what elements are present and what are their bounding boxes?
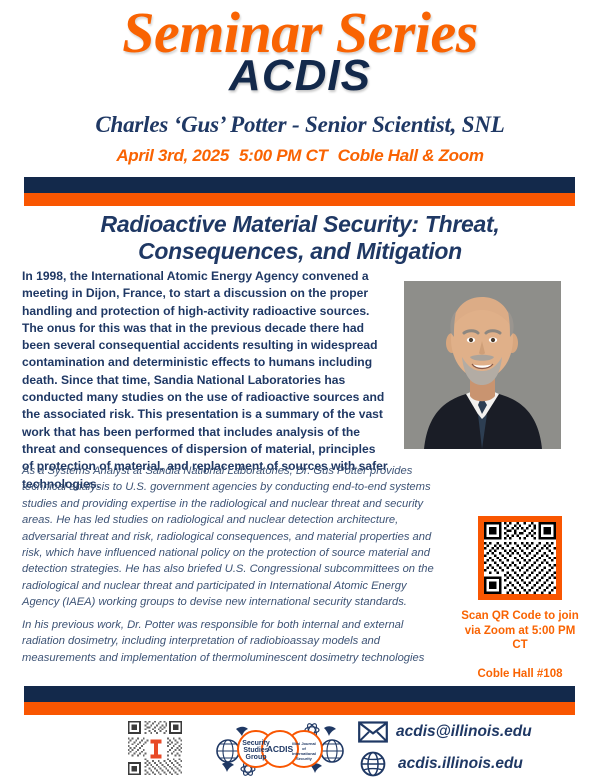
speaker-bio-paragraph-1: As a Systems Analyst at Sandia National … bbox=[22, 463, 446, 611]
poster-footer: Security Studies Group ACDIS Illini Jour… bbox=[0, 716, 600, 777]
qr-code-icon bbox=[124, 719, 186, 777]
logo-text-security-2: Security bbox=[296, 756, 313, 761]
top-divider-navy-bar bbox=[24, 177, 575, 193]
globe-icon bbox=[360, 751, 386, 777]
bottom-divider-navy-bar bbox=[24, 686, 575, 702]
poster-header: Seminar Series ACDIS Charles ‘Gus’ Potte… bbox=[0, 0, 600, 170]
contact-block: acdis@illinois.edu acdis.illinois.edu bbox=[358, 720, 588, 784]
logo-text-acdis: ACDIS bbox=[267, 744, 294, 754]
globe-right-icon bbox=[321, 740, 343, 762]
logo-text-group: Group bbox=[246, 754, 267, 761]
website-url: acdis.illinois.edu bbox=[398, 755, 523, 773]
speaker-photo bbox=[404, 281, 561, 449]
illinois-qr-code[interactable] bbox=[124, 719, 186, 777]
logo-text-security: Security bbox=[242, 740, 270, 747]
acdis-logo-icon: Security Studies Group ACDIS Illini Jour… bbox=[212, 720, 348, 778]
globe-left-icon bbox=[217, 740, 239, 762]
acdis-partner-logo: Security Studies Group ACDIS Illini Jour… bbox=[212, 720, 348, 778]
seminar-poster: Seminar Series ACDIS Charles ‘Gus’ Potte… bbox=[0, 0, 600, 777]
bottom-divider-orange-bar bbox=[24, 702, 575, 715]
logo-text-studies: Studies bbox=[243, 747, 268, 754]
contact-email-row[interactable]: acdis@illinois.edu bbox=[358, 720, 588, 744]
talk-title: Radioactive Material Security: Threat, C… bbox=[42, 211, 558, 265]
email-icon bbox=[358, 720, 388, 744]
bottom-divider bbox=[24, 686, 575, 715]
zoom-qr-code[interactable] bbox=[478, 516, 562, 600]
room-number: Coble Hall #108 bbox=[461, 667, 579, 682]
event-location: Coble Hall & Zoom bbox=[338, 146, 484, 165]
email-address: acdis@illinois.edu bbox=[396, 723, 532, 741]
speaker-bio-paragraph-2: In his previous work, Dr. Potter was res… bbox=[22, 617, 446, 666]
contact-website-row[interactable]: acdis.illinois.edu bbox=[358, 751, 588, 777]
event-time: 5:00 PM CT bbox=[239, 146, 328, 165]
speaker-portrait-illustration bbox=[404, 281, 561, 449]
speaker-name-title: Charles ‘Gus’ Potter - Senior Scientist,… bbox=[0, 111, 600, 138]
event-details-line: April 3rd, 20255:00 PM CTCoble Hall & Zo… bbox=[0, 145, 600, 166]
qr-code-icon bbox=[484, 522, 556, 594]
top-divider bbox=[24, 177, 575, 206]
talk-abstract: In 1998, the International Atomic Energy… bbox=[22, 268, 390, 493]
top-divider-orange-bar bbox=[24, 193, 575, 206]
org-acronym-wordmark: ACDIS bbox=[0, 52, 600, 100]
event-date: April 3rd, 2025 bbox=[116, 146, 229, 165]
zoom-qr-panel: Scan QR Code to join via Zoom at 5:00 PM… bbox=[461, 516, 579, 681]
qr-caption: Scan QR Code to join via Zoom at 5:00 PM… bbox=[461, 609, 579, 653]
